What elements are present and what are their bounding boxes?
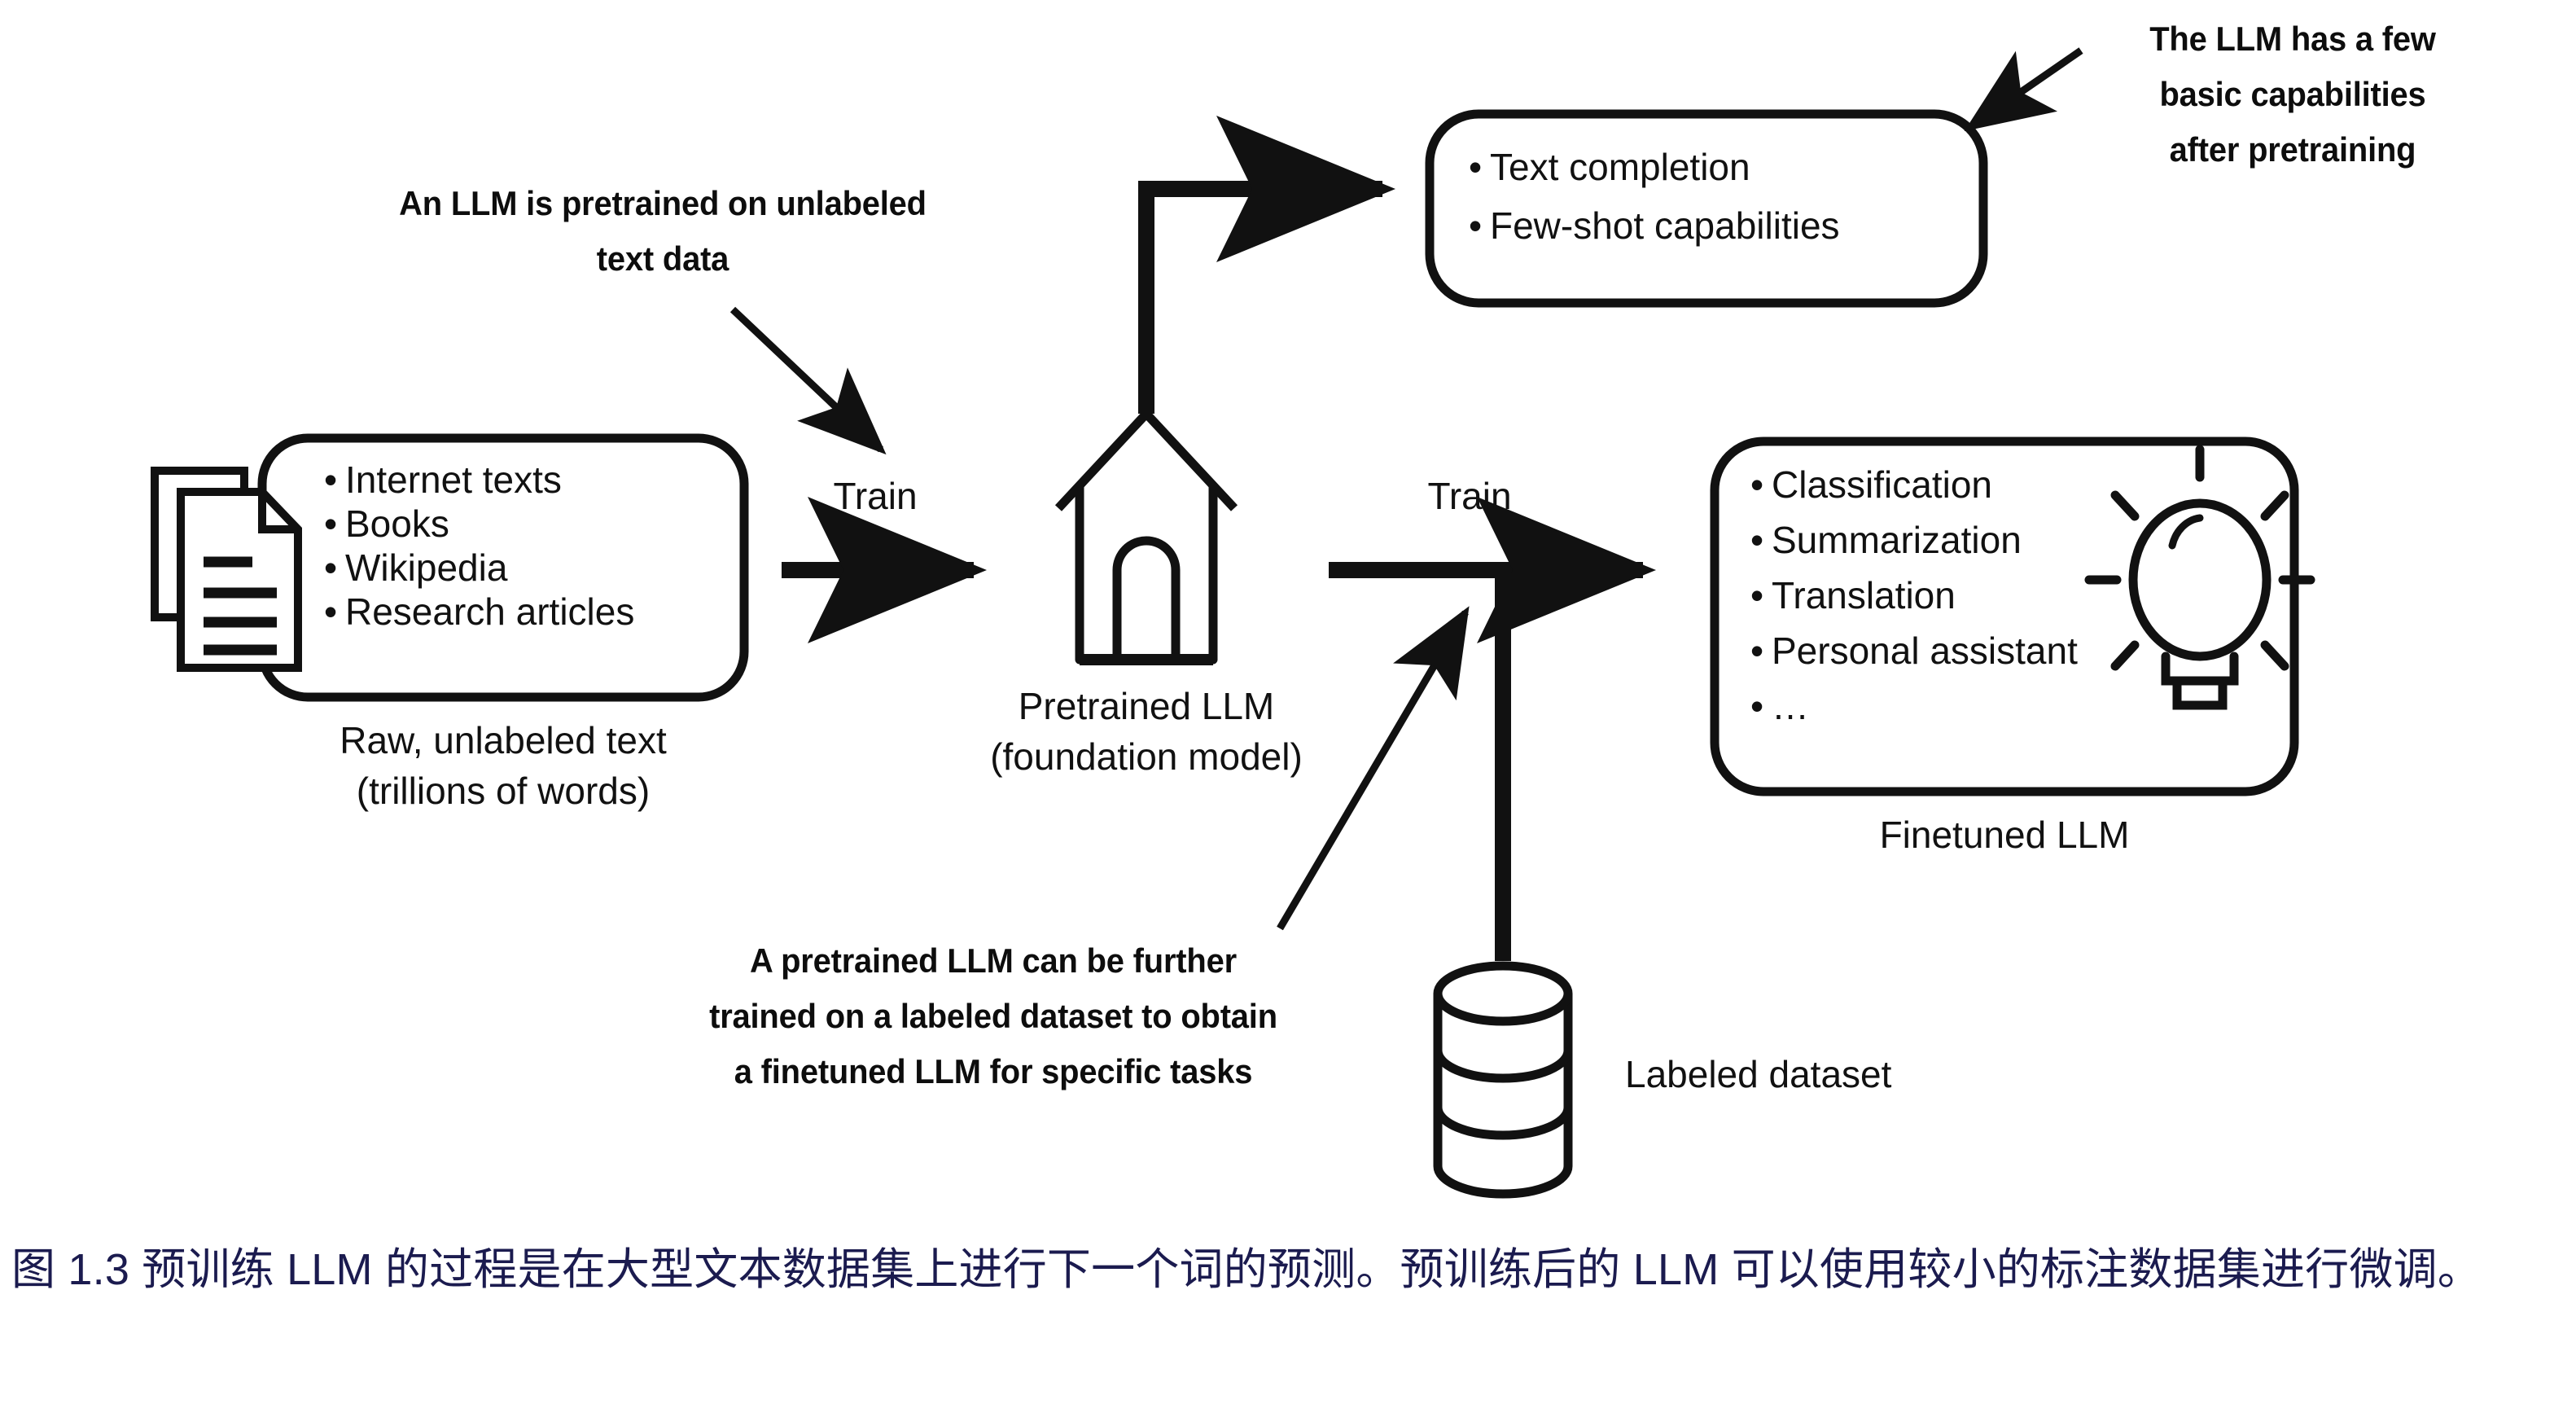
labeled-dataset-label: Labeled dataset [1625, 1051, 1891, 1099]
finetuned-llm-list: • Classification • Summarization • Trans… [1750, 463, 2078, 728]
list-item-label: Books [345, 502, 449, 546]
figure-caption: 图 1.3 预训练 LLM 的过程是在大型文本数据集上进行下一个词的预测。预训练… [11, 1236, 2565, 1303]
pretrain-note-arrow [733, 309, 881, 450]
list-item-label: Summarization [1772, 518, 2022, 562]
list-item: • Translation [1750, 573, 2078, 617]
raw-data-caption-line2: (trillions of words) [259, 767, 747, 815]
bullet-icon: • [1750, 463, 1772, 507]
list-item-label: Text completion [1490, 145, 1750, 189]
bullet-icon: • [1750, 573, 1772, 617]
list-item-label: Personal assistant [1772, 629, 2078, 673]
list-item: • Few-shot capabilities [1469, 204, 1840, 248]
list-item-label: … [1772, 684, 1809, 728]
bullet-icon: • [1750, 629, 1772, 673]
list-item: • Classification [1750, 463, 2078, 507]
capabilities-arrow [1146, 189, 1382, 414]
capabilities-note-arrow [1970, 50, 2081, 127]
capabilities-note: The LLM has a few basic capabilities aft… [2092, 11, 2494, 178]
bullet-icon: • [324, 458, 345, 502]
list-item: • … [1750, 684, 2078, 728]
finetuned-llm-caption: Finetuned LLM [1760, 811, 2249, 859]
finetune-note: A pretrained LLM can be further trained … [637, 933, 1349, 1099]
pretrain-note: An LLM is pretrained on unlabeled text d… [346, 176, 980, 287]
bullet-icon: • [324, 590, 345, 634]
figure-diagram: An LLM is pretrained on unlabeled text d… [0, 0, 2576, 1213]
raw-data-caption-line1: Raw, unlabeled text [259, 717, 747, 765]
bullet-icon: • [1750, 518, 1772, 562]
pretrained-llm-caption-line2: (foundation model) [902, 733, 1391, 781]
list-item-label: Classification [1772, 463, 1992, 507]
pretrained-llm-caption-line1: Pretrained LLM [902, 682, 1391, 731]
list-item: • Books [324, 502, 634, 546]
train-label-2: Train [1368, 472, 1571, 520]
base-capabilities-list: • Text completion • Few-shot capabilitie… [1469, 145, 1840, 248]
raw-data-list: • Internet texts • Books • Wikipedia • R… [324, 458, 634, 634]
bullet-icon: • [1469, 145, 1490, 189]
bullet-icon: • [324, 546, 345, 590]
list-item-label: Research articles [345, 590, 634, 634]
list-item: • Research articles [324, 590, 634, 634]
bullet-icon: • [1750, 684, 1772, 728]
bullet-icon: • [324, 502, 345, 546]
list-item: • Internet texts [324, 458, 634, 502]
bullet-icon: • [1469, 204, 1490, 248]
list-item-label: Translation [1772, 573, 1956, 617]
list-item: • Text completion [1469, 145, 1840, 189]
list-item-label: Internet texts [345, 458, 562, 502]
database-cylinder-icon [1438, 966, 1568, 1194]
house-icon [1058, 414, 1234, 660]
list-item: • Personal assistant [1750, 629, 2078, 673]
train-label-1: Train [773, 472, 977, 520]
list-item-label: Few-shot capabilities [1490, 204, 1840, 248]
list-item: • Wikipedia [324, 546, 634, 590]
list-item: • Summarization [1750, 518, 2078, 562]
list-item-label: Wikipedia [345, 546, 507, 590]
